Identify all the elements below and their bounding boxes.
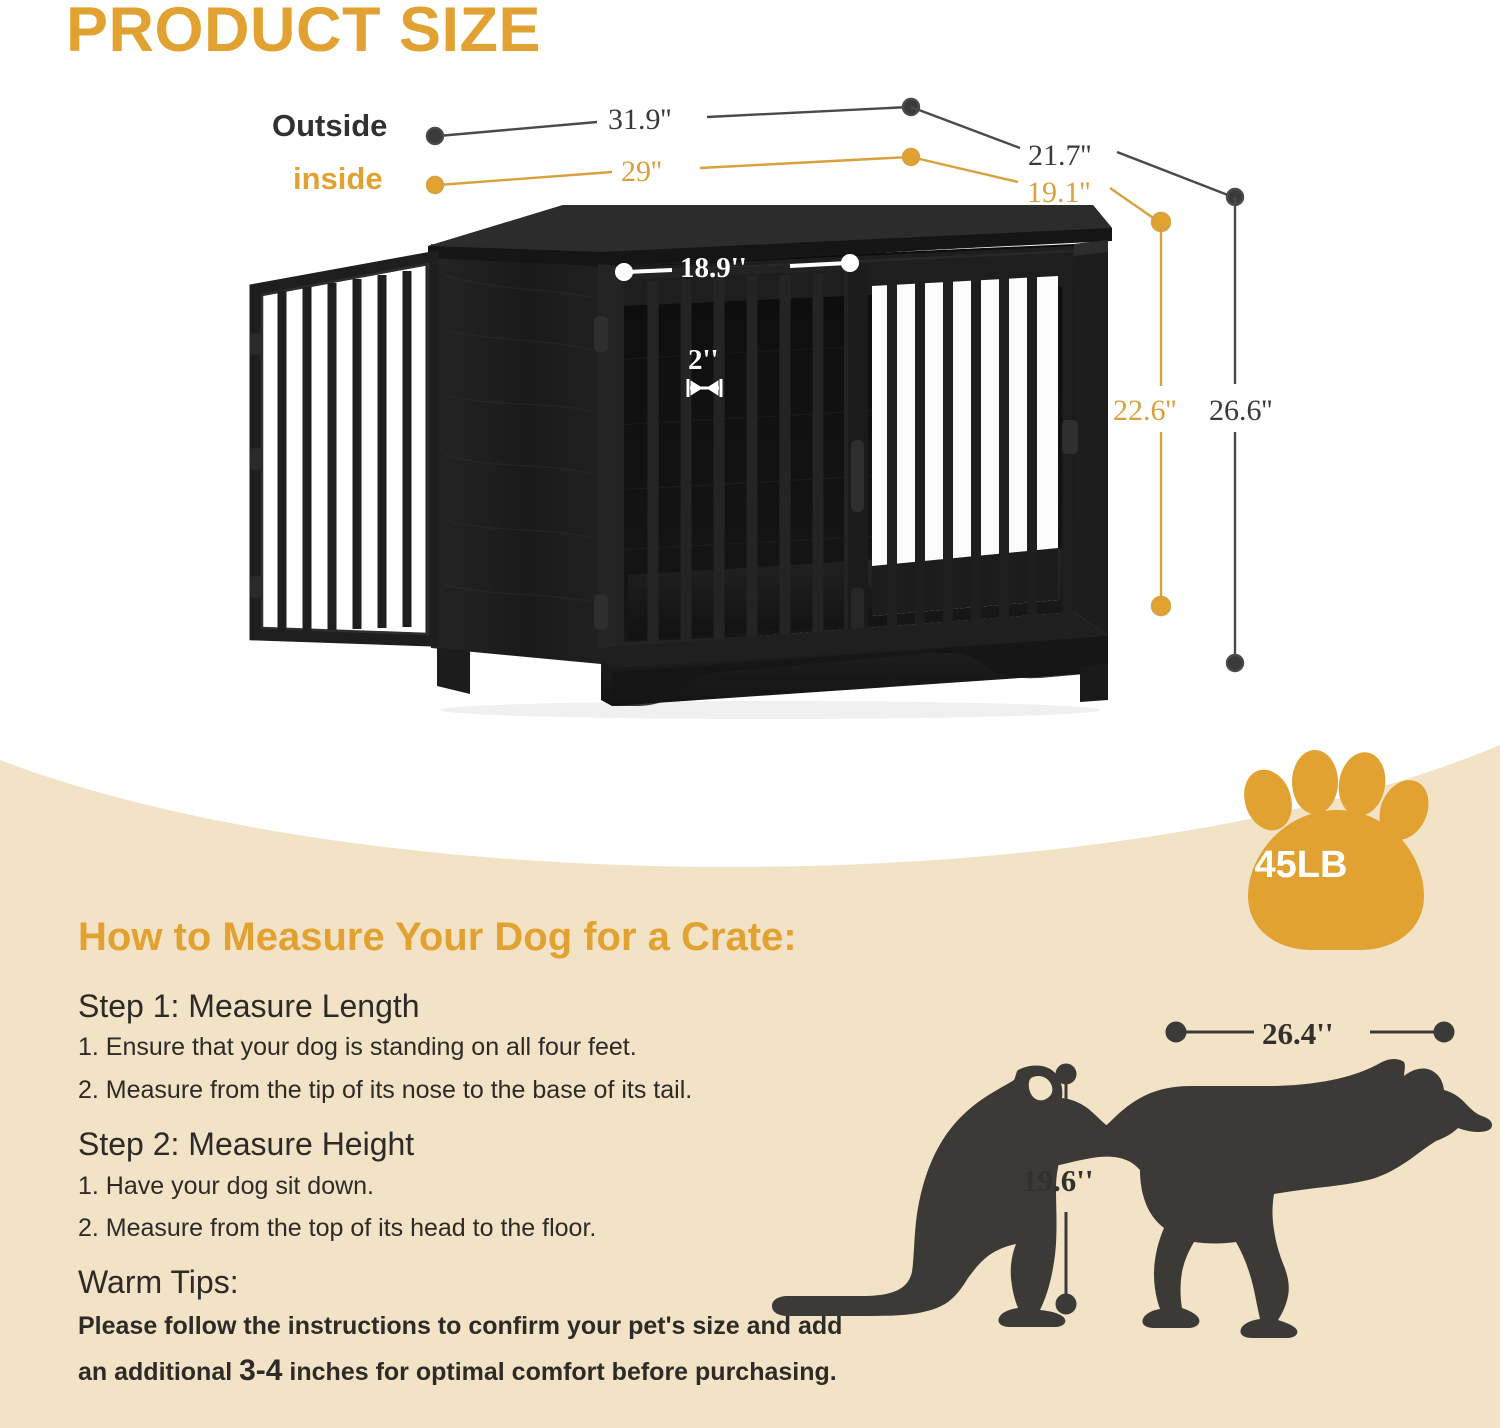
step-1-line-1: 1. Ensure that your dog is standing on a… <box>78 1033 637 1062</box>
dog-height-dimension: 19.6'' <box>1022 1163 1093 1199</box>
howto-heading: How to Measure Your Dog for a Crate: <box>78 915 797 960</box>
step-1-title: Step 1: Measure Length <box>78 988 420 1025</box>
infographic-canvas: PRODUCT SIZE Outside inside 31.9'' 29'' … <box>0 0 1500 1428</box>
warm-tips-line-2-post: inches for optimal comfort before purcha… <box>282 1358 836 1386</box>
weight-capacity-badge: 45LB <box>1236 844 1366 887</box>
step-1-line-2: 2. Measure from the tip of its nose to t… <box>78 1076 692 1105</box>
step-2-line-1: 1. Have your dog sit down. <box>78 1172 374 1201</box>
crate-front-door-right <box>862 258 1078 640</box>
crate-center-latch <box>848 264 868 642</box>
legend-inside-label: inside <box>293 161 383 197</box>
warm-tips-title: Warm Tips: <box>78 1264 239 1301</box>
step-2-title: Step 2: Measure Height <box>78 1126 414 1163</box>
page-title: PRODUCT SIZE <box>66 0 541 66</box>
dimension-inside-depth: 19.1'' <box>1027 176 1090 210</box>
step-2-line-2: 2. Measure from the top of its head to t… <box>78 1214 596 1243</box>
crate-left-door-open <box>250 258 432 640</box>
dimension-inside-width: 29'' <box>621 155 662 189</box>
dimension-inside-height: 22.6'' <box>1113 394 1176 428</box>
crate-front-door-left <box>620 266 848 646</box>
dimension-outside-depth: 21.7'' <box>1028 139 1091 173</box>
warm-tips-emphasis: 3-4 <box>239 1354 282 1387</box>
dog-length-dimension: 26.4'' <box>1262 1016 1333 1052</box>
warm-tips-line-2-pre: an additional <box>78 1358 239 1386</box>
legend-outside-label: Outside <box>272 108 387 144</box>
dimension-door-width: 18.9'' <box>680 252 747 285</box>
warm-tips-line-2: an additional 3-4 inches for optimal com… <box>78 1354 837 1388</box>
dimension-bar-spacing: 2'' <box>688 344 719 377</box>
crate-hinges-left <box>594 316 608 630</box>
dimension-outside-width: 31.9'' <box>608 103 671 137</box>
warm-tips-line-1: Please follow the instructions to confir… <box>78 1312 842 1341</box>
dimension-outside-height: 26.6'' <box>1209 394 1272 428</box>
